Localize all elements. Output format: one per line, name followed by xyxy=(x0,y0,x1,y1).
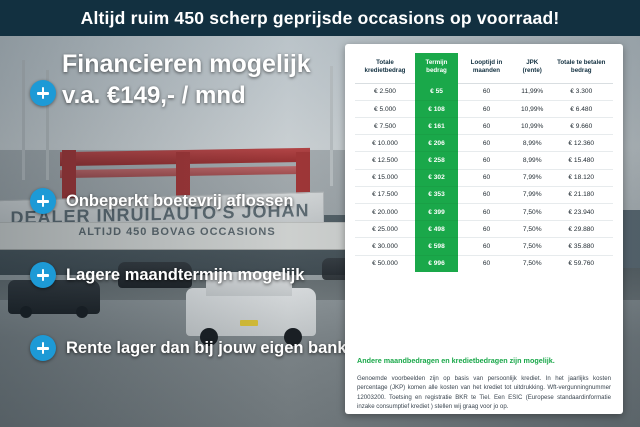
plus-icon xyxy=(30,335,56,361)
rates-table-body: € 2.500€ 556011,99%€ 3.300€ 5.000€ 10860… xyxy=(355,83,613,272)
table-cell: 11,99% xyxy=(515,83,550,100)
header-total-credit: Totale kredietbedrag xyxy=(355,53,415,83)
table-cell: € 996 xyxy=(415,255,458,272)
table-cell: € 6.480 xyxy=(550,100,614,117)
table-cell: € 3.300 xyxy=(550,83,614,100)
table-cell: 7,50% xyxy=(515,238,550,255)
table-cell: 60 xyxy=(458,100,515,117)
table-cell: € 302 xyxy=(415,169,458,186)
table-cell: € 12.360 xyxy=(550,135,614,152)
table-cell: € 108 xyxy=(415,100,458,117)
table-row: € 50.000€ 996607,50%€ 59.760 xyxy=(355,255,613,272)
table-cell: 10,99% xyxy=(515,118,550,135)
bullet-label-3: Rente lager dan bij jouw eigen bank xyxy=(66,339,347,358)
table-header-row: Totale kredietbedrag Termijn bedrag Loop… xyxy=(355,53,613,83)
header-apr: JPK (rente) xyxy=(515,53,550,83)
table-cell: € 21.180 xyxy=(550,186,614,203)
table-cell: 7,50% xyxy=(515,255,550,272)
table-cell: € 9.660 xyxy=(550,118,614,135)
table-row: € 10.000€ 206608,99%€ 12.360 xyxy=(355,135,613,152)
table-cell: € 15.480 xyxy=(550,152,614,169)
rates-card: Totale kredietbedrag Termijn bedrag Loop… xyxy=(345,44,623,414)
table-cell: € 12.500 xyxy=(355,152,415,169)
table-cell: € 59.760 xyxy=(550,255,614,272)
table-row: € 20.000€ 399607,50%€ 23.940 xyxy=(355,204,613,221)
table-cell: € 20.000 xyxy=(355,204,415,221)
table-cell: € 353 xyxy=(415,186,458,203)
promo-heading-line2: v.a. €149,- / mnd xyxy=(62,82,362,110)
rates-table: Totale kredietbedrag Termijn bedrag Loop… xyxy=(355,53,613,272)
header-duration: Looptijd in maanden xyxy=(458,53,515,83)
promo-heading-line1: Financieren mogelijk xyxy=(62,50,362,79)
table-cell: € 399 xyxy=(415,204,458,221)
table-cell: € 50.000 xyxy=(355,255,415,272)
table-cell: 7,99% xyxy=(515,169,550,186)
table-cell: € 18.120 xyxy=(550,169,614,186)
table-cell: € 30.000 xyxy=(355,238,415,255)
plus-icon xyxy=(30,80,56,106)
table-cell: 60 xyxy=(458,169,515,186)
table-cell: € 206 xyxy=(415,135,458,152)
table-row: € 30.000€ 598607,50%€ 35.880 xyxy=(355,238,613,255)
table-cell: € 7.500 xyxy=(355,118,415,135)
table-row: € 17.500€ 353607,99%€ 21.180 xyxy=(355,186,613,203)
table-cell: 7,50% xyxy=(515,221,550,238)
note-body: Genoemde voorbeelden zijn op basis van p… xyxy=(357,374,611,412)
table-row: € 2.500€ 556011,99%€ 3.300 xyxy=(355,83,613,100)
table-cell: € 55 xyxy=(415,83,458,100)
table-cell: € 15.000 xyxy=(355,169,415,186)
table-cell: 60 xyxy=(458,135,515,152)
note-heading: Andere maandbedragen en kredietbedragen … xyxy=(357,356,613,365)
table-cell: € 25.000 xyxy=(355,221,415,238)
headline-bar: Altijd ruim 450 scherp geprijsde occasio… xyxy=(0,0,640,36)
table-cell: € 161 xyxy=(415,118,458,135)
table-cell: € 35.880 xyxy=(550,238,614,255)
header-total-payable: Totale te betalen bedrag xyxy=(550,53,614,83)
plus-icon xyxy=(30,262,56,288)
table-cell: € 17.500 xyxy=(355,186,415,203)
table-cell: € 29.880 xyxy=(550,221,614,238)
headline-text: Altijd ruim 450 scherp geprijsde occasio… xyxy=(0,0,640,36)
table-cell: € 598 xyxy=(415,238,458,255)
table-cell: 60 xyxy=(458,83,515,100)
header-monthly-amount: Termijn bedrag xyxy=(415,53,458,83)
table-cell: € 258 xyxy=(415,152,458,169)
promo-banner-image: DEALER INRUILAUTO'S JOHAN MEURE ALTIJD 4… xyxy=(0,0,640,427)
table-cell: 7,50% xyxy=(515,204,550,221)
table-cell: 8,99% xyxy=(515,152,550,169)
table-row: € 25.000€ 498607,50%€ 29.880 xyxy=(355,221,613,238)
table-cell: 60 xyxy=(458,255,515,272)
table-cell: 60 xyxy=(458,221,515,238)
table-cell: 7,99% xyxy=(515,186,550,203)
table-row: € 12.500€ 258608,99%€ 15.480 xyxy=(355,152,613,169)
table-cell: 60 xyxy=(458,186,515,203)
table-cell: € 498 xyxy=(415,221,458,238)
table-cell: 8,99% xyxy=(515,135,550,152)
plus-icon xyxy=(30,188,56,214)
bullet-label-1: Onbeperkt boetevrij aflossen xyxy=(66,192,293,211)
table-cell: 60 xyxy=(458,152,515,169)
table-cell: € 2.500 xyxy=(355,83,415,100)
table-cell: 60 xyxy=(458,118,515,135)
table-row: € 15.000€ 302607,99%€ 18.120 xyxy=(355,169,613,186)
table-cell: € 5.000 xyxy=(355,100,415,117)
table-cell: 60 xyxy=(458,204,515,221)
table-cell: € 23.940 xyxy=(550,204,614,221)
table-cell: 60 xyxy=(458,238,515,255)
table-row: € 5.000€ 1086010,99%€ 6.480 xyxy=(355,100,613,117)
table-row: € 7.500€ 1616010,99%€ 9.660 xyxy=(355,118,613,135)
table-cell: 10,99% xyxy=(515,100,550,117)
table-cell: € 10.000 xyxy=(355,135,415,152)
bullet-label-2: Lagere maandtermijn mogelijk xyxy=(66,266,304,285)
